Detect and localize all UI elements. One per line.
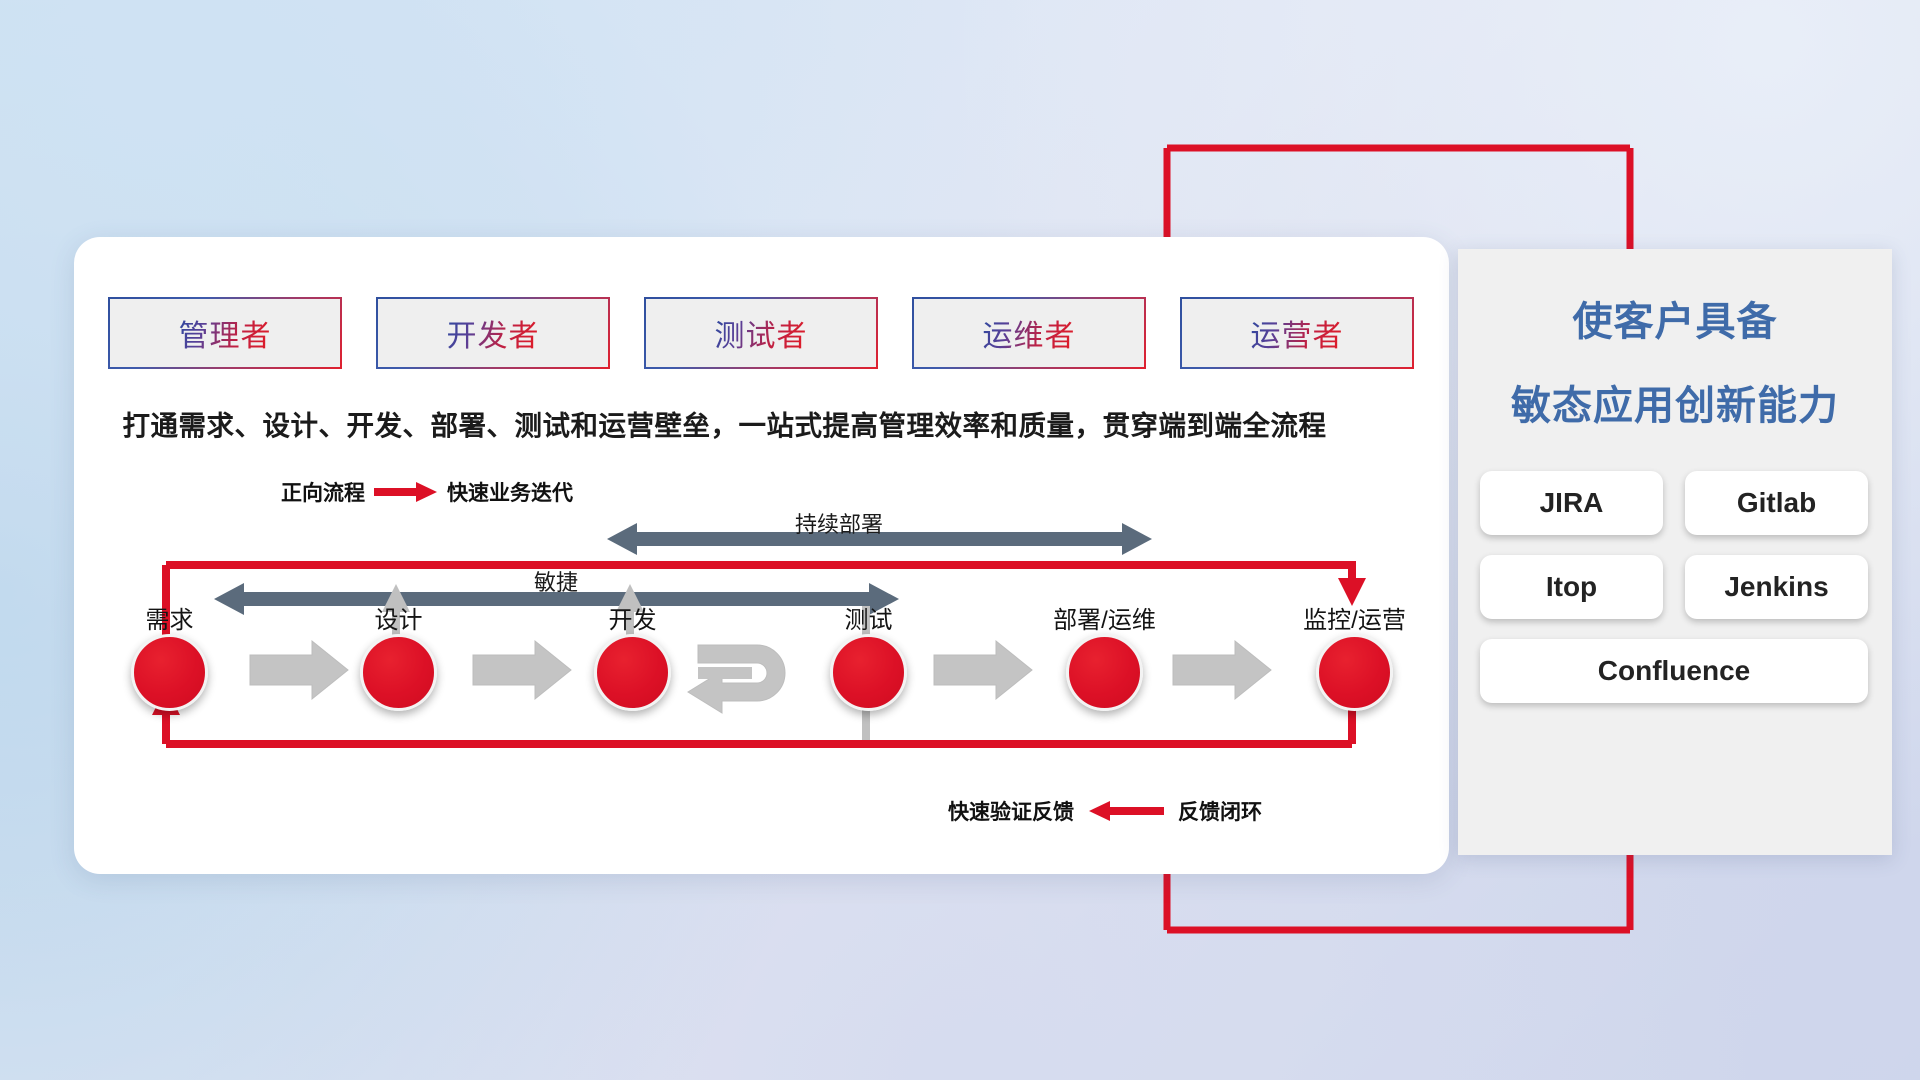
stage-label: 部署/运维 <box>1053 600 1156 635</box>
tool-chip-label: Gitlab <box>1737 487 1816 519</box>
tool-chip-itop[interactable]: Itop <box>1480 555 1663 619</box>
tool-chip-gitlab[interactable]: Gitlab <box>1685 471 1868 535</box>
arrow-left-red-icon <box>1088 800 1164 822</box>
value-proposition-panel: 使客户具备 敏态应用创新能力 JIRA Gitlab Itop Jenkins … <box>1458 249 1892 855</box>
legend-feedback-left-label: 快速验证反馈 <box>948 796 1074 826</box>
legend-forward-right-label: 快速业务迭代 <box>447 477 573 507</box>
stage-node-develop[interactable]: 开发 <box>594 634 671 711</box>
role-box-tester[interactable]: 测试者 <box>646 299 876 367</box>
stage-dot <box>131 634 208 711</box>
tool-chip-jira[interactable]: JIRA <box>1480 471 1663 535</box>
tool-chip-label: Jenkins <box>1724 571 1828 603</box>
role-label: 运营者 <box>1251 311 1344 355</box>
stage-node-requirement[interactable]: 需求 <box>131 634 208 711</box>
headline-text: 打通需求、设计、开发、部署、测试和运营壁垒，一站式提高管理效率和质量，贯穿端到端… <box>0 403 1449 443</box>
stage-label: 开发 <box>609 600 657 635</box>
role-label: 管理者 <box>179 311 272 355</box>
span-label-agile: 敏捷 <box>534 565 578 597</box>
stage-node-test[interactable]: 测试 <box>830 634 907 711</box>
stage-dot <box>830 634 907 711</box>
role-box-manager[interactable]: 管理者 <box>110 299 340 367</box>
legend-feedback-loop: 快速验证反馈 反馈闭环 <box>948 796 1262 826</box>
tool-chip-jenkins[interactable]: Jenkins <box>1685 555 1868 619</box>
stage-label: 监控/运营 <box>1303 600 1406 635</box>
stage-dot <box>1066 634 1143 711</box>
panel-title: 使客户具备 敏态应用创新能力 <box>1458 289 1892 431</box>
stage-label: 测试 <box>845 600 893 635</box>
role-label: 运维者 <box>983 311 1076 355</box>
stage-node-monitor-operate[interactable]: 监控/运营 <box>1316 634 1393 711</box>
tool-chip-confluence[interactable]: Confluence <box>1480 639 1868 703</box>
stage-node-design[interactable]: 设计 <box>360 634 437 711</box>
legend-forward-left-label: 正向流程 <box>281 477 365 507</box>
arrow-right-red-icon <box>374 481 438 503</box>
stage-dot <box>1316 634 1393 711</box>
tool-chip-label: Itop <box>1546 571 1597 603</box>
tool-chip-grid: JIRA Gitlab Itop Jenkins Confluence <box>1480 471 1870 703</box>
tool-chip-label: JIRA <box>1540 487 1604 519</box>
span-label-continuous-deploy: 持续部署 <box>795 507 883 539</box>
role-label: 测试者 <box>715 311 808 355</box>
panel-title-line-2: 敏态应用创新能力 <box>1458 373 1892 431</box>
stage-dot <box>594 634 671 711</box>
role-box-row: 管理者 开发者 测试者 运维者 运营者 <box>110 299 1412 367</box>
stage-node-deploy-ops[interactable]: 部署/运维 <box>1066 634 1143 711</box>
stage-label: 设计 <box>375 600 423 635</box>
tool-chip-label: Confluence <box>1598 655 1750 687</box>
role-label: 开发者 <box>447 311 540 355</box>
panel-title-line-1: 使客户具备 <box>1458 289 1892 347</box>
role-box-developer[interactable]: 开发者 <box>378 299 608 367</box>
stage-label: 需求 <box>146 600 194 635</box>
stage-dot <box>360 634 437 711</box>
legend-forward-flow: 正向流程 快速业务迭代 <box>281 477 573 507</box>
legend-feedback-right-label: 反馈闭环 <box>1178 796 1262 826</box>
role-box-operator[interactable]: 运营者 <box>1182 299 1412 367</box>
role-box-ops-engineer[interactable]: 运维者 <box>914 299 1144 367</box>
